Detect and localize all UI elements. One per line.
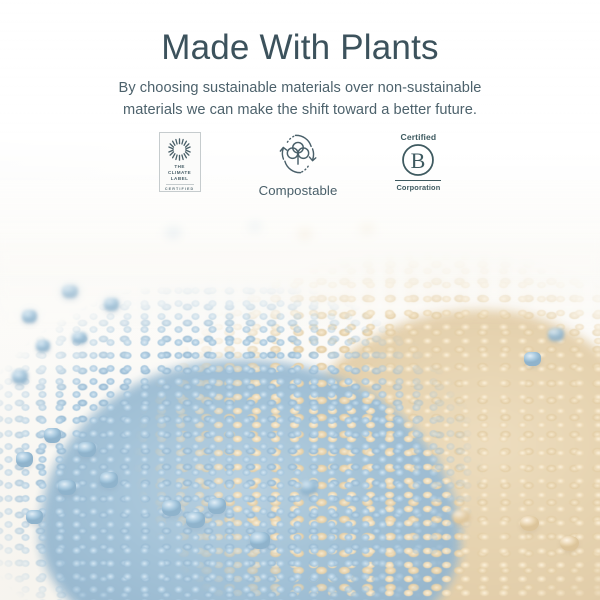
divider — [166, 184, 194, 185]
climate-label-line-3: LABEL — [168, 176, 191, 182]
bioplastic-pellets-photo — [0, 180, 600, 600]
b-corp-corporation-text: Corporation — [396, 183, 440, 192]
climate-label-card: THE CLIMATE LABEL CERTIFIED — [159, 132, 201, 192]
loose-pellet — [12, 370, 28, 384]
loose-pellet — [36, 340, 50, 352]
loose-pellet — [250, 532, 270, 549]
badge-compostable[interactable]: Compostable — [259, 132, 338, 198]
badge-climate-label[interactable]: THE CLIMATE LABEL CERTIFIED — [159, 132, 201, 192]
certification-badge-row: THE CLIMATE LABEL CERTIFIED — [0, 132, 600, 198]
b-corp-certified-text: Certified — [401, 132, 437, 142]
loose-pellet — [186, 512, 205, 528]
compostable-label: Compostable — [259, 183, 338, 198]
loose-pellet — [560, 536, 579, 551]
product-marketing-poster: Made With Plants By choosing sustainable… — [0, 0, 600, 600]
svg-text:B: B — [411, 148, 426, 173]
loose-pellet — [72, 332, 87, 344]
badge-b-corporation[interactable]: Certified B Corporation — [395, 132, 441, 192]
loose-pellet — [26, 510, 43, 524]
loose-pellet — [520, 516, 539, 531]
subtitle-line-1: By choosing sustainable materials over n… — [0, 78, 600, 99]
b-corp-circled-b-icon: B — [401, 143, 435, 177]
loose-pellet — [524, 352, 541, 366]
loose-pellet — [16, 452, 33, 467]
loose-pellet — [208, 498, 226, 514]
loose-pellet — [162, 500, 181, 516]
loose-pellet — [78, 442, 96, 457]
loose-pellet — [452, 510, 470, 524]
loose-pellet — [100, 472, 118, 488]
climate-label-certified-text: CERTIFIED — [165, 187, 194, 191]
poster-text-block: Made With Plants By choosing sustainable… — [0, 0, 600, 121]
divider — [395, 180, 441, 182]
sunburst-icon — [167, 137, 192, 162]
compostable-clover-arrows-icon — [274, 132, 322, 176]
poster-subtitle: By choosing sustainable materials over n… — [0, 78, 600, 121]
loose-pellet — [58, 480, 76, 495]
climate-label-wordmark: THE CLIMATE LABEL — [168, 164, 191, 182]
pile-top-fade — [0, 180, 600, 300]
subtitle-line-2: materials we can make the shift toward a… — [0, 100, 600, 121]
page-title: Made With Plants — [0, 28, 600, 67]
loose-pellet — [300, 480, 317, 495]
loose-pellet — [44, 428, 61, 443]
